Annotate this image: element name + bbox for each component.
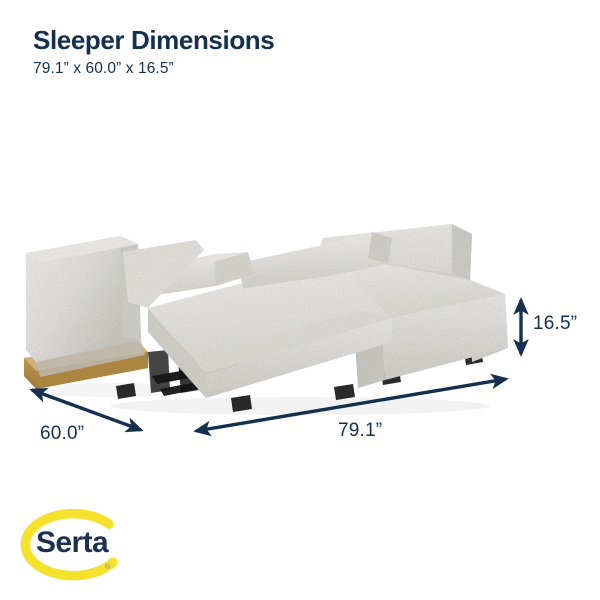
registered-trademark-mark: ®: [105, 564, 110, 571]
depth-dimension-label: 60.0”: [40, 423, 84, 445]
serta-logo: Serta ®: [8, 507, 138, 589]
width-dimension-label: 79.1”: [338, 420, 382, 442]
serta-wordmark: Serta: [36, 528, 108, 558]
height-dimension-label: 16.5”: [533, 313, 577, 335]
dimension-diagram-canvas: Sleeper Dimensions 79.1” x 60.0” x 16.5”: [0, 0, 600, 600]
